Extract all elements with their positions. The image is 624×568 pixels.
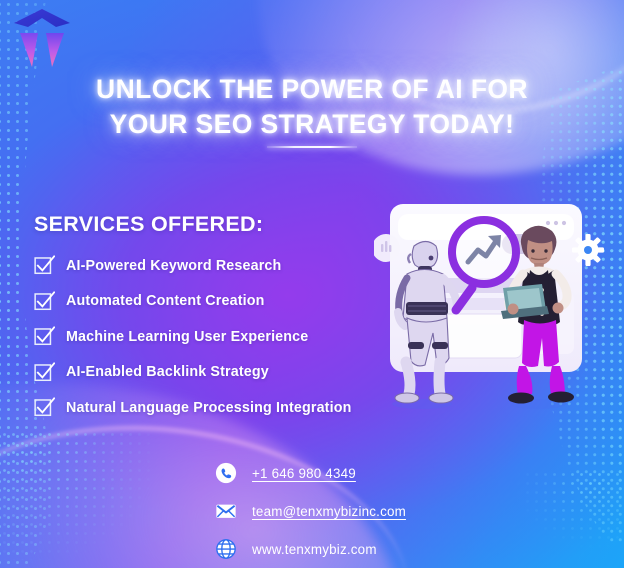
poster-canvas: UNLOCK THE POWER OF AI FOR YOUR SEO STRA… xyxy=(0,0,624,568)
list-item: Automated Content Creation xyxy=(34,291,386,312)
hero-illustration xyxy=(374,192,606,412)
checkbox-checked-icon[interactable] xyxy=(34,326,55,347)
contact-website-text[interactable]: www.tenxmybiz.com xyxy=(252,542,377,557)
checkbox-checked-icon[interactable] xyxy=(34,397,55,418)
headline-line-1: UNLOCK THE POWER OF AI FOR xyxy=(60,72,564,107)
contact-row-website[interactable]: www.tenxmybiz.com xyxy=(215,538,475,560)
list-item-label: Machine Learning User Experience xyxy=(66,329,308,345)
tenx-t-logo-icon[interactable] xyxy=(10,7,74,73)
headline: UNLOCK THE POWER OF AI FOR YOUR SEO STRA… xyxy=(60,72,564,142)
email-icon xyxy=(215,500,237,522)
laptop-icon xyxy=(501,284,549,319)
list-item-label: AI-Powered Keyword Research xyxy=(66,258,281,274)
phone-icon xyxy=(215,462,237,484)
contact-email-text[interactable]: team@tenxmybizinc.com xyxy=(252,504,406,519)
list-item-label: Natural Language Processing Integration xyxy=(66,400,351,416)
checkbox-checked-icon[interactable] xyxy=(34,255,55,276)
globe-icon xyxy=(215,538,237,560)
list-item: Machine Learning User Experience xyxy=(34,326,386,347)
list-item: AI-Enabled Backlink Strategy xyxy=(34,362,386,383)
services-list: AI-Powered Keyword Research Automated Co… xyxy=(34,255,386,418)
gear-icon xyxy=(572,234,604,266)
bottom-left-dot-cluster-decoration xyxy=(0,430,150,560)
headline-line-2: YOUR SEO STRATEGY TODAY! xyxy=(60,107,564,142)
list-item: AI-Powered Keyword Research xyxy=(34,255,386,276)
contact-row-email[interactable]: team@tenxmybizinc.com xyxy=(215,500,475,522)
bottom-right-dot-cluster-decoration xyxy=(514,470,624,560)
contact-row-phone[interactable]: +1 646 980 4349 xyxy=(215,462,475,484)
contact-section: +1 646 980 4349 team@tenxmybizinc.com xyxy=(215,462,475,568)
checkbox-checked-icon[interactable] xyxy=(34,362,55,383)
services-section: SERVICES OFFERED: AI-Powered Keyword Res… xyxy=(34,212,386,433)
list-item-label: Automated Content Creation xyxy=(66,293,265,309)
checkbox-checked-icon[interactable] xyxy=(34,291,55,312)
list-item-label: AI-Enabled Backlink Strategy xyxy=(66,364,269,380)
services-title: SERVICES OFFERED: xyxy=(34,212,386,237)
list-item: Natural Language Processing Integration xyxy=(34,397,386,418)
contact-phone-text[interactable]: +1 646 980 4349 xyxy=(252,466,356,481)
headline-divider xyxy=(267,146,357,148)
